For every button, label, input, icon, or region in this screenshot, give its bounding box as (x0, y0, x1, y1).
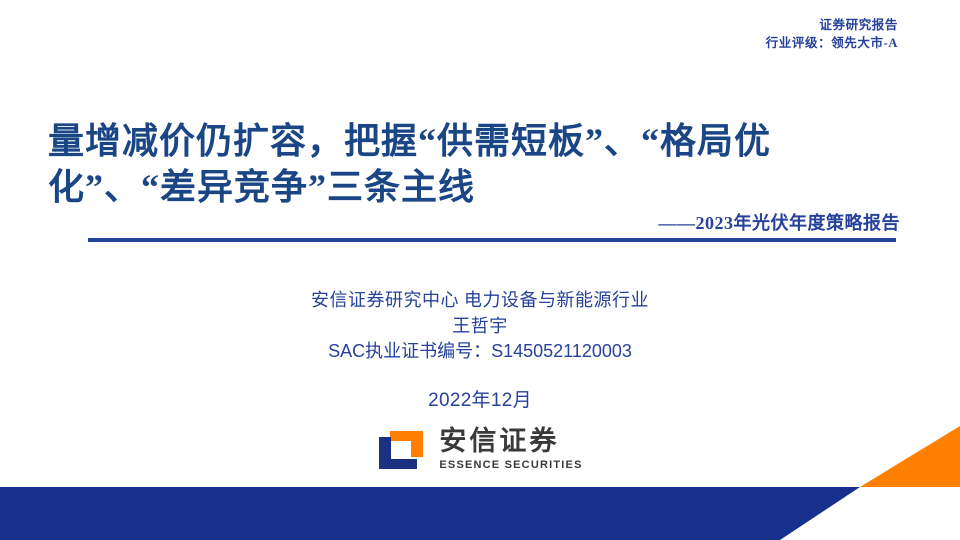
logo-text-block: 安信证券 ESSENCE SECURITIES (439, 428, 582, 471)
research-report-label: 证券研究报告 (766, 16, 898, 34)
page-subtitle: ——2023年光伏年度策略报告 (659, 209, 901, 235)
title-divider-rule (88, 238, 896, 242)
author-block: 安信证券研究中心 电力设备与新能源行业 王哲宇 SAC执业证书编号：S14505… (0, 288, 960, 365)
logo-english-name: ESSENCE SECURITIES (439, 460, 582, 471)
page-title: 量增减价仍扩容，把握“供需短板”、“格局优化”、“差异竞争”三条主线 (48, 118, 916, 210)
analyst-name: 王哲宇 (0, 314, 960, 340)
industry-rating-label: 行业评级：领先大市-A (766, 34, 898, 52)
report-cover-slide: 证券研究报告 行业评级：领先大市-A 量增减价仍扩容，把握“供需短板”、“格局优… (0, 0, 960, 540)
sac-certificate-number: SAC执业证书编号：S1450521120003 (0, 339, 960, 365)
publish-date: 2022年12月 (0, 385, 960, 412)
title-block: 量增减价仍扩容，把握“供需短板”、“格局优化”、“差异竞争”三条主线 (48, 118, 916, 210)
header-meta: 证券研究报告 行业评级：领先大市-A (766, 16, 898, 52)
institution-line: 安信证券研究中心 电力设备与新能源行业 (0, 288, 960, 314)
logo-chinese-name: 安信证券 (439, 428, 559, 455)
essence-logo-icon (377, 429, 425, 471)
company-logo: 安信证券 ESSENCE SECURITIES (0, 428, 960, 471)
